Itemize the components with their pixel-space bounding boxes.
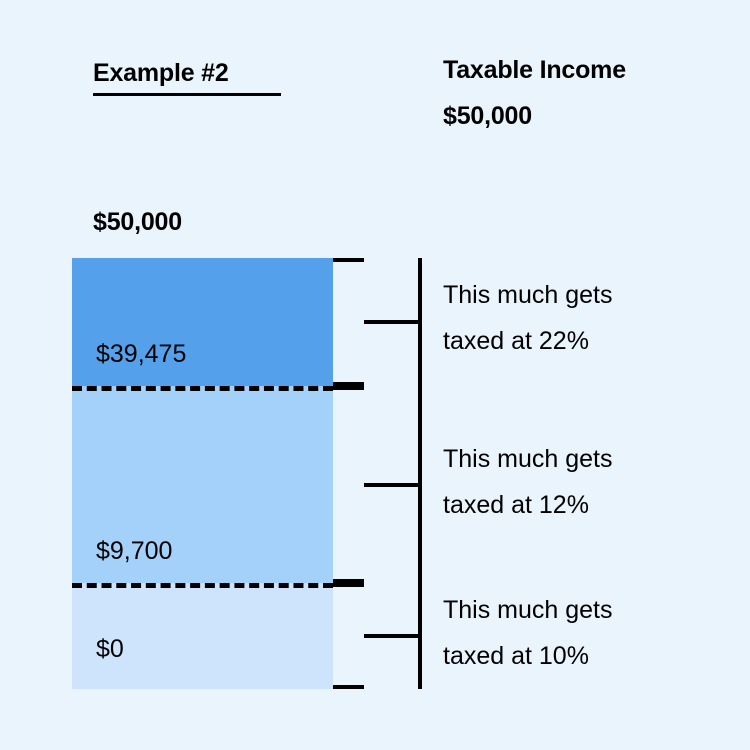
bracket-stem <box>364 634 422 638</box>
annotation-12-percent-line2: taxed at 12% <box>443 493 613 518</box>
bracket-divider-upper <box>72 386 333 391</box>
taxable-income-heading: Taxable Income $50,000 <box>443 58 626 129</box>
bracket-marker-22 <box>333 258 422 386</box>
taxable-income-heading-line2: $50,000 <box>443 104 626 129</box>
annotation-22-percent-line2: taxed at 22% <box>443 329 613 354</box>
annotation-10-percent-line2: taxed at 10% <box>443 644 613 669</box>
bracket-threshold-9700: $9,700 <box>96 537 172 566</box>
annotation-22-percent: This much gets taxed at 22% <box>443 283 613 354</box>
stacked-bar: $39,475 $9,700 $0 <box>72 258 333 689</box>
bracket-arm-top <box>333 386 364 390</box>
page-title: Example #2 <box>93 58 229 89</box>
bracket-threshold-0: $0 <box>96 635 124 664</box>
bracket-arm-top <box>333 583 364 587</box>
bracket-stem <box>364 320 422 324</box>
annotation-10-percent: This much gets taxed at 10% <box>443 598 613 669</box>
annotation-22-percent-line1: This much gets <box>443 281 613 309</box>
bar-total-label: $50,000 <box>93 208 182 237</box>
bracket-stem <box>364 483 422 487</box>
bracket-arm-top <box>333 258 364 262</box>
bracket-divider-lower <box>72 583 333 588</box>
diagram-canvas: Example #2 Taxable Income $50,000 $50,00… <box>0 0 750 750</box>
taxable-income-heading-line1: Taxable Income <box>443 56 626 84</box>
bracket-threshold-39475: $39,475 <box>96 340 186 369</box>
annotation-10-percent-line1: This much gets <box>443 596 613 624</box>
annotation-12-percent-line1: This much gets <box>443 445 613 473</box>
bracket-marker-10 <box>333 583 422 689</box>
bracket-arm-bottom <box>333 685 364 689</box>
annotation-12-percent: This much gets taxed at 12% <box>443 447 613 518</box>
bracket-marker-12 <box>333 386 422 583</box>
page-title-underline <box>93 93 281 96</box>
